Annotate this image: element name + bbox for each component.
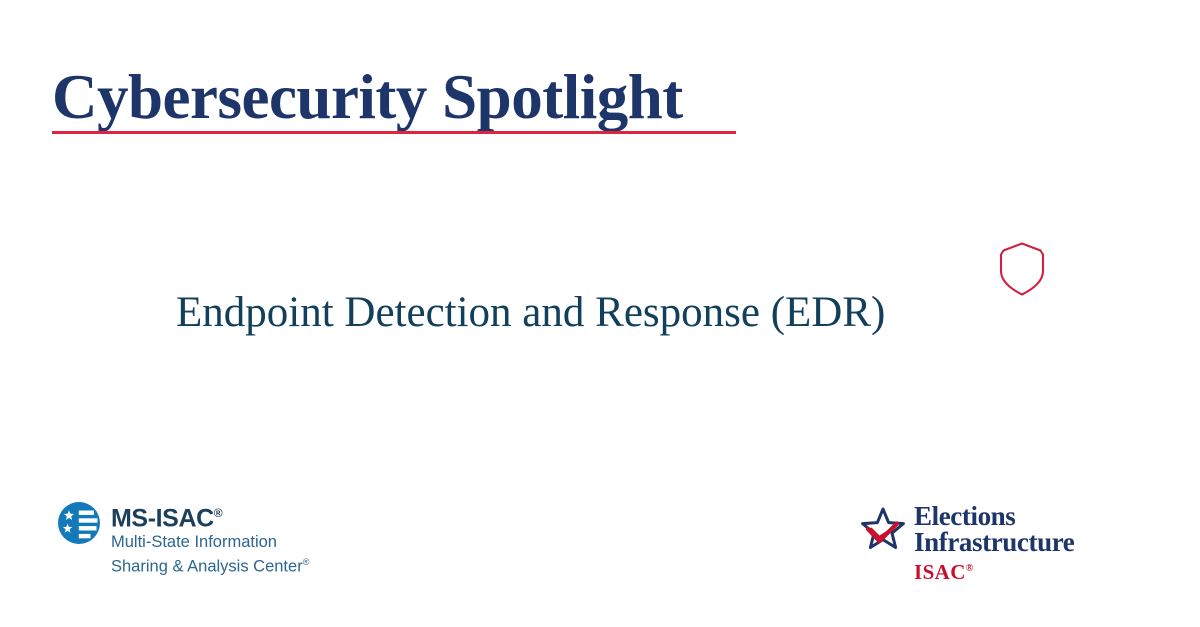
- ms-isac-tagline-line-1: Multi-State Information: [111, 532, 309, 552]
- shield-icon: [998, 241, 1046, 297]
- subtitle-text: Endpoint Detection and Response (EDR): [176, 287, 885, 339]
- title-underline-rule: [52, 131, 736, 134]
- title-block: Cybersecurity Spotlight: [52, 62, 742, 132]
- ms-isac-tagline-line-2-label: Sharing & Analysis Center: [111, 558, 303, 576]
- ei-isac-star-icon: [860, 506, 906, 557]
- ms-isac-wordmark: MS-ISAC®: [111, 500, 309, 532]
- ei-isac-line-1: Elections: [914, 503, 1074, 529]
- ei-isac-logo: Elections Infrastructure ISAC®: [860, 503, 1074, 584]
- slide-canvas: Cybersecurity Spotlight Endpoint Detecti…: [0, 0, 1200, 627]
- ms-isac-tagline-line-2: Sharing & Analysis Center®: [111, 552, 309, 577]
- ei-isac-text-block: Elections Infrastructure ISAC®: [914, 503, 1074, 584]
- ei-isac-sub-label: ISAC®: [914, 557, 1074, 584]
- ms-isac-logo: MS-ISAC® Multi-State Information Sharing…: [57, 500, 309, 577]
- ms-isac-wordmark-label: MS-ISAC: [111, 504, 214, 532]
- ms-isac-wordmark-registered: ®: [214, 506, 223, 520]
- ms-isac-emblem-icon: [57, 501, 101, 550]
- ei-isac-sub-text: ISAC: [914, 560, 966, 584]
- ei-isac-sub-registered: ®: [966, 563, 974, 574]
- page-title: Cybersecurity Spotlight: [52, 62, 742, 132]
- ms-isac-text-block: MS-ISAC® Multi-State Information Sharing…: [111, 500, 309, 577]
- ei-isac-line-2: Infrastructure: [914, 529, 1074, 555]
- ms-isac-tagline-registered: ®: [303, 557, 310, 567]
